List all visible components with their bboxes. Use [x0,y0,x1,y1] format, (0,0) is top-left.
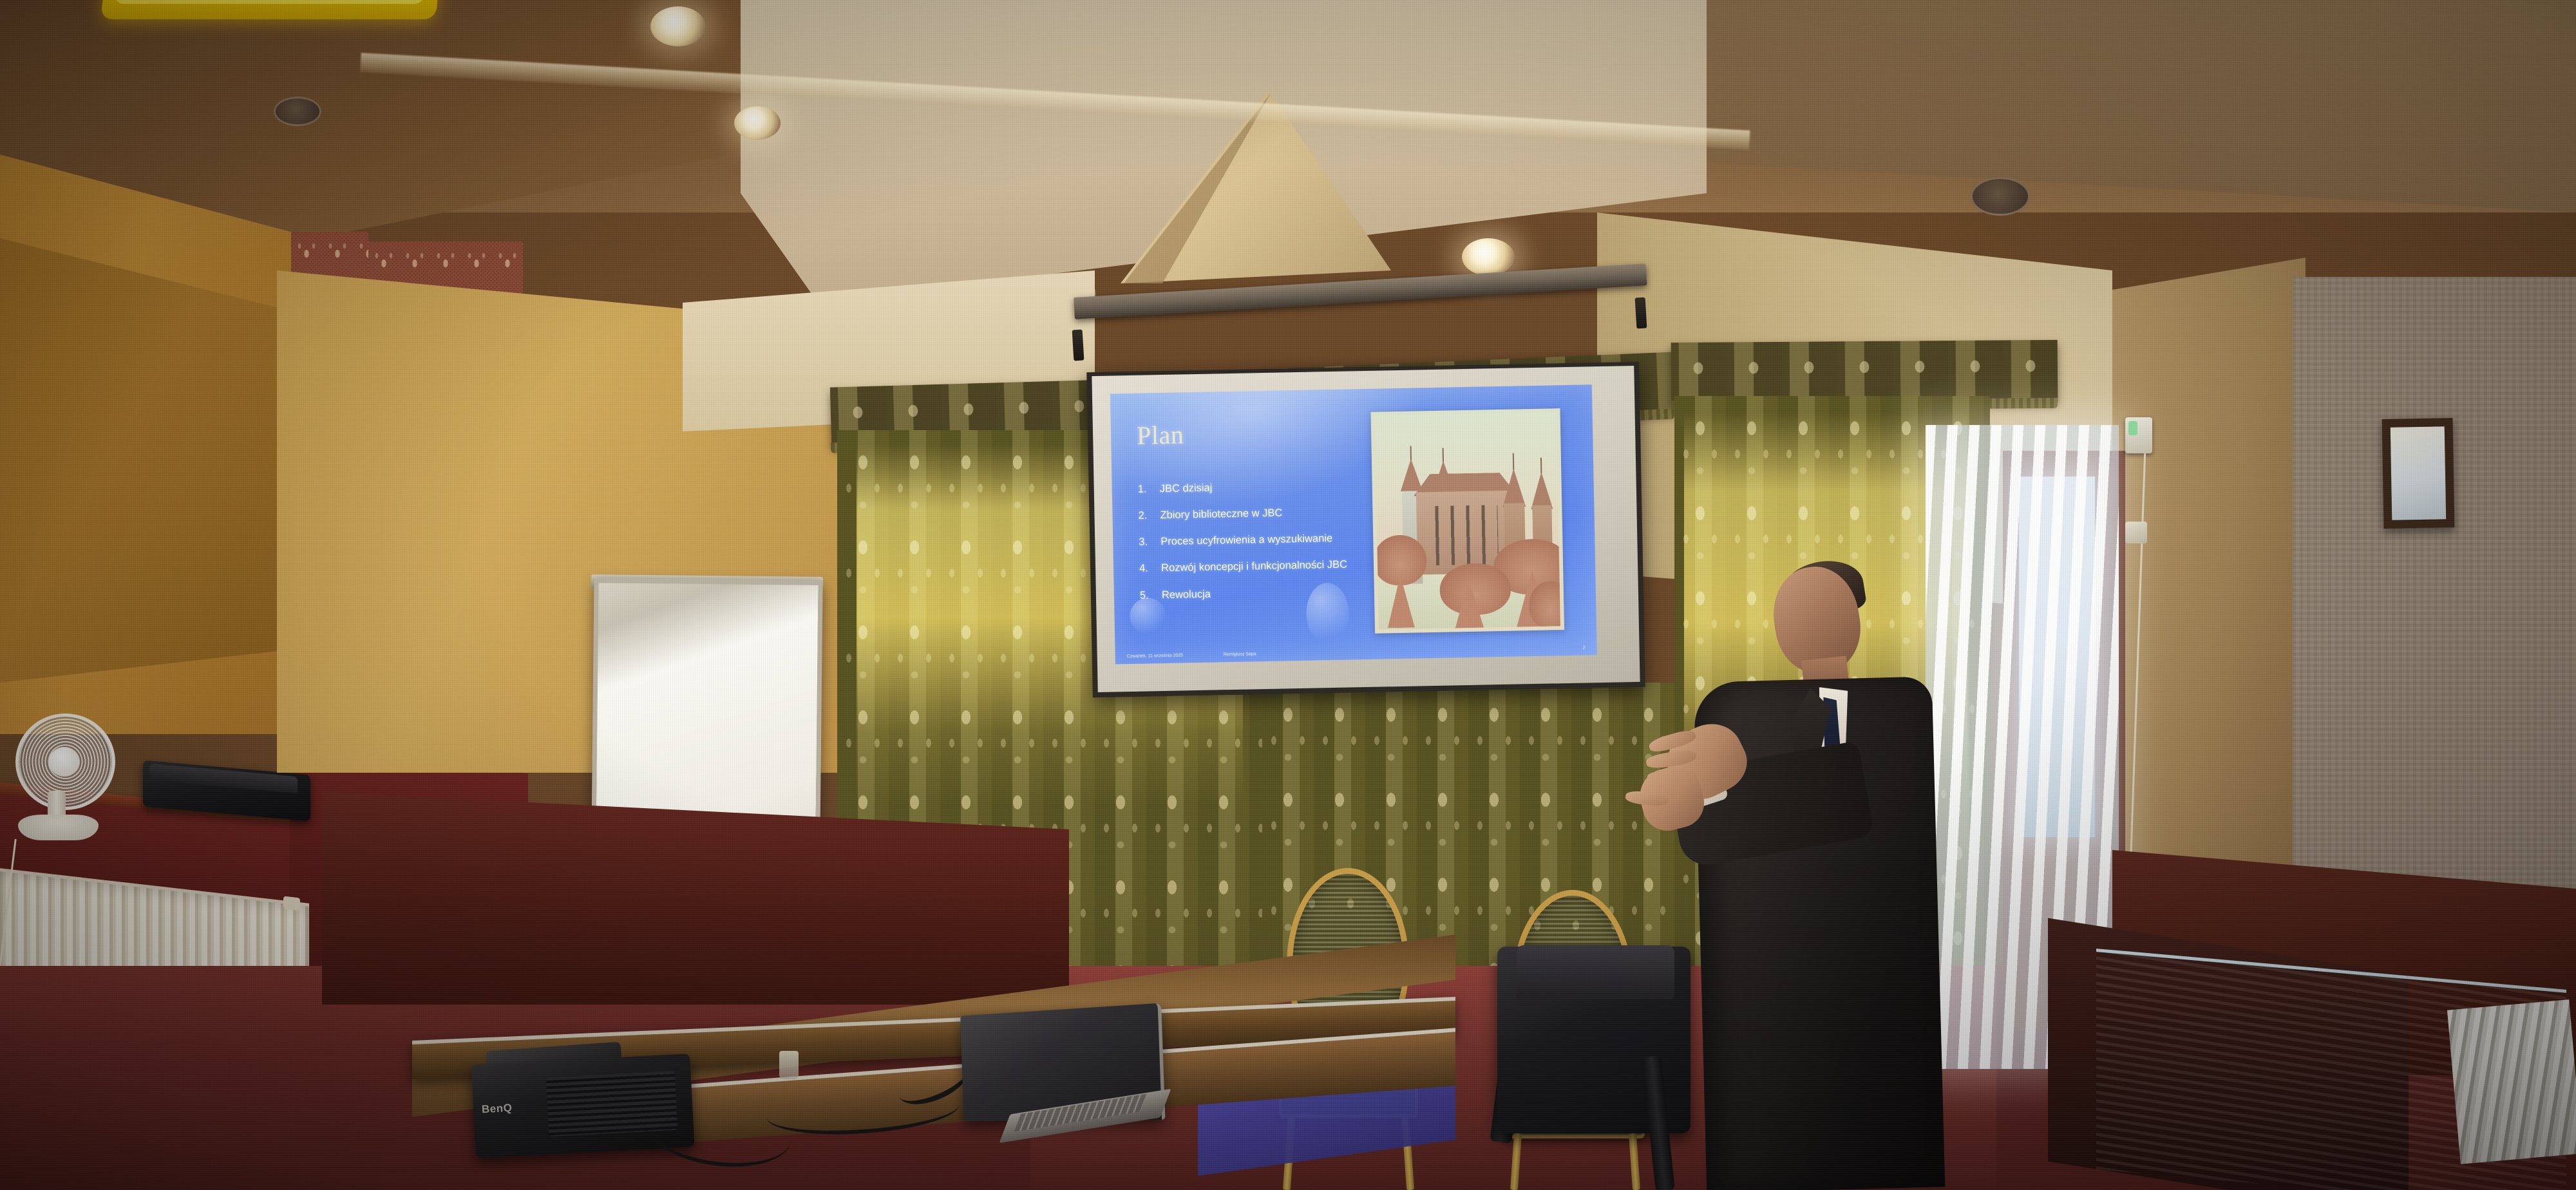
ceiling-downlight-off-1 [274,97,321,126]
room-photo-scene: Plan 1. JBC dzisiaj 2. Zbiory bibliotecz… [0,0,2576,1190]
slide-bubble-small [1130,598,1166,634]
slide-footer-page-number: 2 [1583,645,1586,650]
desk-fan-hub [49,747,80,777]
slide-list-item-2: 2. Zbiory biblioteczne w JBC [1138,505,1396,522]
slide-item-number: 1. [1138,483,1152,495]
framed-wall-picture [2382,418,2455,529]
presentation-slide: Plan 1. JBC dzisiaj 2. Zbiory bibliotecz… [1110,384,1597,664]
laptop-bag-flap [1517,945,1674,999]
curtain-valance-right [1671,340,2058,404]
illustration-spire-pole-1 [1410,446,1412,460]
ceiling-downlight-1 [650,6,706,46]
slide-item-number: 4. [1139,563,1153,575]
slide-agenda-list: 1. JBC dzisiaj 2. Zbiory biblioteczne w … [1138,478,1398,616]
slide-footer-date: Czwartek, 11 września 2025 [1127,652,1224,659]
slide-castle-illustration-inner [1375,412,1560,629]
slide-item-text: JBC dzisiaj [1160,482,1213,495]
projector-brand-label: BenQ [482,1102,513,1116]
ceiling-right-section [1674,0,2576,258]
yellow-ceiling-panel-inner [115,0,427,4]
light-switch[interactable] [2125,522,2147,543]
wall-sensor-led-icon [2128,421,2137,435]
slide-list-item-5: 5. Rewolucja [1140,585,1397,601]
ceiling-downlight-off-3 [1971,177,2030,216]
slide-castle-illustration [1370,408,1564,634]
projection-screen-housing-end-right [1635,297,1647,329]
center-wainscot [322,792,1069,1005]
projection-screen-housing-end-left [1072,330,1084,361]
illustration-spire-1 [1400,458,1423,491]
projection-screen[interactable]: Plan 1. JBC dzisiaj 2. Zbiory bibliotecz… [1086,362,1645,697]
illustration-spire-pole-2 [1443,448,1444,462]
ceiling-downlight-3 [1462,238,1515,276]
slide-item-text: Zbiory biblioteczne w JBC [1160,507,1282,522]
slide-item-text: Proces ucyfrowienia a wyszukiwanie [1160,533,1332,547]
slide-list-item-3: 3. Proces ucyfrowienia a wyszukiwanie [1139,531,1396,548]
radiator-valve-knob [283,896,300,911]
illustration-spire-pole-4 [1540,458,1542,473]
metal-rail-strip [2447,999,2576,1164]
desk-fan-base [18,815,99,840]
slide-item-number: 3. [1139,536,1153,549]
illustration-spire-4 [1530,471,1553,509]
slide-item-text: Rewolucja [1162,588,1211,601]
slide-title: Plan [1137,419,1184,450]
slide-item-text: Rozwój koncepcji i funkcjonalności JBC [1161,559,1347,574]
slide-item-number: 2. [1138,510,1152,522]
slide-footer-author: Remigiusz Sapa [1224,646,1583,657]
illustration-spire-pole-3 [1513,453,1514,470]
slide-list-item-4: 4. Rozwój koncepcji i funkcjonalności JB… [1139,558,1397,575]
small-glass-on-table [779,1051,799,1079]
ceiling-downlight-2 [734,106,781,140]
illustration-facade-windows [1429,505,1499,565]
